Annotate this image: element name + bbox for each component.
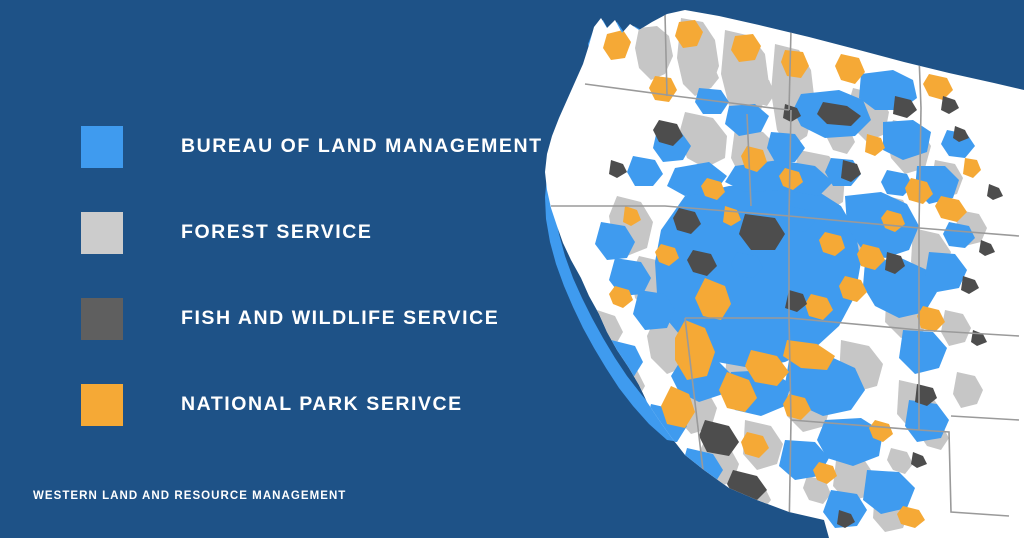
map-svg (489, 0, 1024, 538)
legend-item-forest-service[interactable]: FOREST SERVICE (81, 212, 501, 254)
western-us-map (489, 0, 1024, 538)
legend-label-forest-service: FOREST SERVICE (181, 223, 372, 243)
legend: BUREAU OF LAND MANAGEMENT FOREST SERVICE… (81, 126, 501, 426)
swatch-fish-and-wildlife-icon (81, 298, 123, 340)
legend-label-national-park: NATIONAL PARK SERIVCE (181, 395, 463, 415)
legend-label-blm: BUREAU OF LAND MANAGEMENT (181, 137, 543, 157)
infographic-page: BUREAU OF LAND MANAGEMENT FOREST SERVICE… (0, 0, 1024, 538)
swatch-forest-service-icon (81, 212, 123, 254)
footer-caption: WESTERN LAND AND RESOURCE MANAGEMENT (33, 490, 346, 502)
legend-item-national-park[interactable]: NATIONAL PARK SERIVCE (81, 384, 501, 426)
legend-item-blm[interactable]: BUREAU OF LAND MANAGEMENT (81, 126, 501, 168)
swatch-national-park-icon (81, 384, 123, 426)
legend-item-fish-and-wildlife[interactable]: FISH AND WILDLIFE SERVICE (81, 298, 501, 340)
swatch-blm-icon (81, 126, 123, 168)
legend-label-fish-and-wildlife: FISH AND WILDLIFE SERVICE (181, 309, 499, 329)
